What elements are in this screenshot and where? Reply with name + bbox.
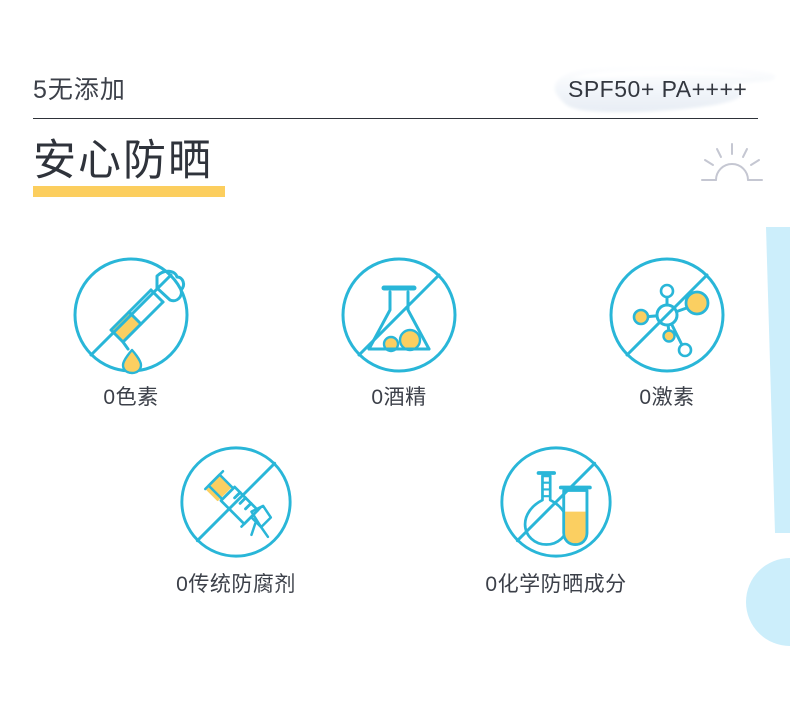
dropper-icon bbox=[71, 255, 191, 375]
page-title-block: 安心防晒 bbox=[33, 140, 213, 198]
free-from-label: 0化学防晒成分 bbox=[485, 574, 626, 595]
title-highlight-bar bbox=[33, 186, 225, 197]
flask-icon bbox=[339, 255, 459, 375]
free-from-row-2: 0传统防腐剂 0化学防晒成分 bbox=[0, 444, 790, 595]
free-from-row-1: 0色素 0酒精 bbox=[0, 255, 790, 408]
sunrise-icon bbox=[700, 142, 764, 188]
test-tube-icon bbox=[498, 444, 614, 560]
page-eyebrow: 5无添加 bbox=[33, 78, 126, 103]
free-from-item-preservative: 0传统防腐剂 bbox=[136, 444, 336, 595]
free-from-item-hormone: 0激素 bbox=[587, 255, 747, 408]
free-from-item-chemical-filter: 0化学防晒成分 bbox=[456, 444, 656, 595]
free-from-label: 0色素 bbox=[103, 387, 158, 408]
free-from-label: 0酒精 bbox=[371, 387, 426, 408]
free-from-item-pigment: 0色素 bbox=[51, 255, 211, 408]
free-from-label: 0激素 bbox=[639, 387, 694, 408]
molecule-icon bbox=[607, 255, 727, 375]
spf-badge: SPF50+ PA++++ bbox=[528, 62, 778, 120]
free-from-label: 0传统防腐剂 bbox=[176, 574, 296, 595]
free-from-item-alcohol: 0酒精 bbox=[319, 255, 479, 408]
syringe-icon bbox=[178, 444, 294, 560]
spf-badge-label: SPF50+ PA++++ bbox=[568, 76, 747, 103]
page-title: 安心防晒 bbox=[33, 140, 213, 183]
